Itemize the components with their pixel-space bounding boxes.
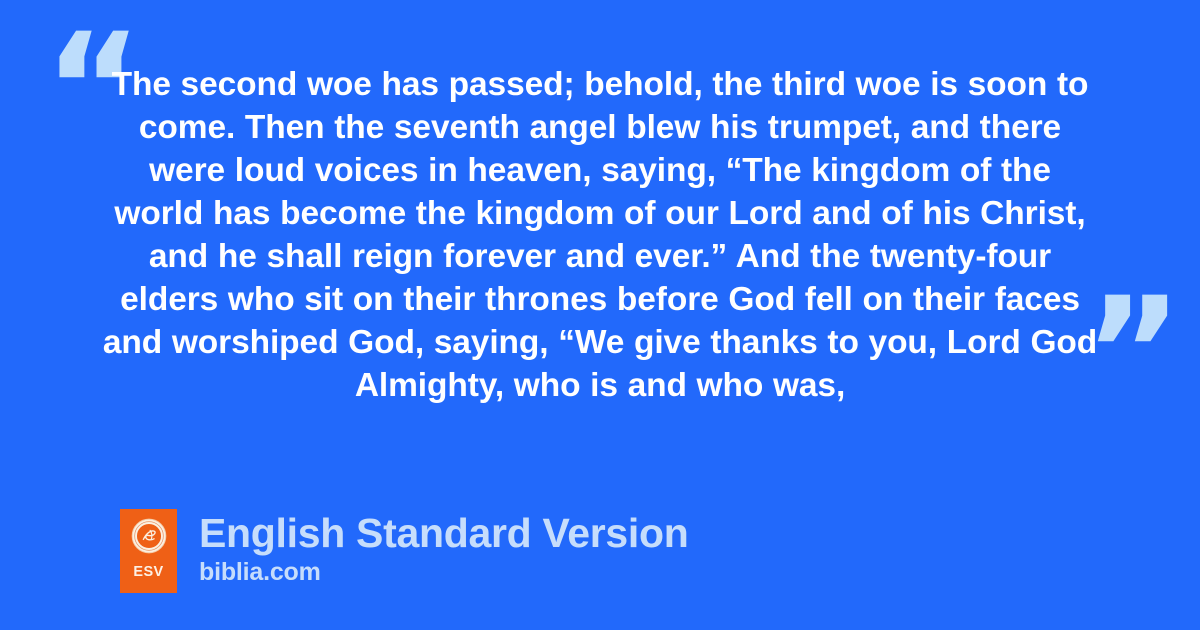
verse-block: The second woe has passed; behold, the t…	[100, 63, 1100, 407]
esv-seal-icon	[131, 518, 167, 554]
verse-card: “ ” The second woe has passed; behold, t…	[0, 0, 1200, 630]
site-url[interactable]: biblia.com	[199, 558, 688, 586]
bible-version-name: English Standard Version	[199, 510, 688, 556]
footer-text: English Standard Version biblia.com	[199, 509, 688, 586]
esv-logo: ESV	[120, 509, 177, 593]
esv-abbreviation: ESV	[133, 565, 163, 580]
verse-text: The second woe has passed; behold, the t…	[100, 63, 1100, 407]
footer: ESV English Standard Version biblia.com	[120, 509, 688, 593]
